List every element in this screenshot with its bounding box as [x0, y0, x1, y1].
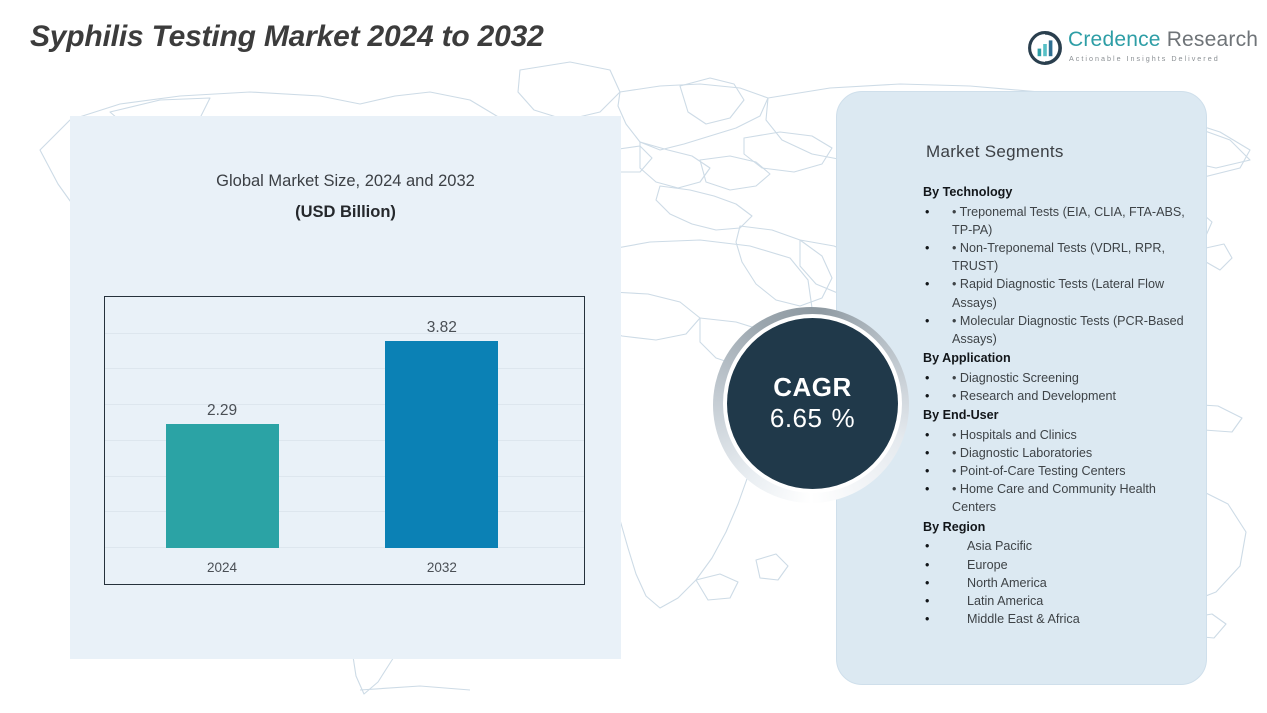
cagr-badge: CAGR 6.65 %: [713, 307, 909, 503]
cagr-value: 6.65: [770, 402, 823, 435]
logo-word-research: Research: [1161, 28, 1259, 51]
bar-2032: [385, 341, 498, 548]
segment-item-label: • Research and Development: [952, 389, 1116, 403]
bullet-icon: •: [925, 369, 929, 387]
bullet-icon: •: [925, 203, 929, 221]
segment-item: •• Non-Treponemal Tests (VDRL, RPR, TRUS…: [923, 239, 1201, 275]
market-size-chart-card: Global Market Size, 2024 and 2032 (USD B…: [70, 116, 621, 659]
gridline: [105, 333, 584, 334]
bullet-icon: •: [925, 312, 929, 330]
category-label-2024: 2024: [166, 560, 279, 575]
segment-item-label: • Molecular Diagnostic Tests (PCR-Based …: [952, 314, 1184, 346]
bar-value-label-2024: 2.29: [166, 402, 279, 420]
segment-item-label: Europe: [967, 558, 1008, 572]
segment-item-label: • Diagnostic Laboratories: [952, 446, 1092, 460]
header: Syphilis Testing Market 2024 to 2032 Cre…: [0, 0, 1267, 86]
bullet-icon: •: [925, 387, 929, 405]
segment-item: •Europe: [923, 556, 1201, 574]
bullet-icon: •: [925, 426, 929, 444]
bullet-icon: •: [925, 462, 929, 480]
segment-item: •• Diagnostic Screening: [923, 369, 1201, 387]
bar-chart-plot-area: 2.2920243.822032: [104, 296, 585, 585]
page-title: Syphilis Testing Market 2024 to 2032: [30, 20, 544, 54]
segment-item: •Asia Pacific: [923, 537, 1201, 555]
chart-title: Global Market Size, 2024 and 2032: [70, 172, 621, 191]
segment-item-label: • Treponemal Tests (EIA, CLIA, FTA-ABS, …: [952, 205, 1185, 237]
logo-tagline: Actionable Insights Delivered: [1069, 54, 1220, 63]
segment-item: •• Hospitals and Clinics: [923, 426, 1201, 444]
segment-item-label: • Diagnostic Screening: [952, 371, 1079, 385]
segment-item: •• Molecular Diagnostic Tests (PCR-Based…: [923, 312, 1201, 348]
bullet-icon: •: [925, 444, 929, 462]
cagr-unit: %: [831, 402, 855, 435]
bar-value-label-2032: 3.82: [385, 319, 498, 337]
segment-group-items: •• Hospitals and Clinics•• Diagnostic La…: [923, 426, 1201, 517]
segment-group-title: By End-User: [923, 407, 1201, 425]
segment-item-label: • Home Care and Community Health Centers: [952, 482, 1156, 514]
segment-item-label: Middle East & Africa: [967, 612, 1080, 626]
bullet-icon: •: [925, 537, 929, 555]
segments-heading: Market Segments: [926, 142, 1064, 162]
segment-group-title: By Region: [923, 519, 1201, 537]
chart-subtitle: (USD Billion): [70, 203, 621, 222]
logo-wordmark: Credence Research: [1068, 28, 1258, 52]
segment-item: •Middle East & Africa: [923, 610, 1201, 628]
bullet-icon: •: [925, 275, 929, 293]
segment-item-label: • Point-of-Care Testing Centers: [952, 464, 1126, 478]
segment-item: •Latin America: [923, 592, 1201, 610]
bullet-icon: •: [925, 592, 929, 610]
bullet-icon: •: [925, 574, 929, 592]
segment-item: •• Rapid Diagnostic Tests (Lateral Flow …: [923, 275, 1201, 311]
bullet-icon: •: [925, 480, 929, 498]
segment-item: •• Research and Development: [923, 387, 1201, 405]
segment-item-label: Asia Pacific: [967, 539, 1032, 553]
segment-item: •• Treponemal Tests (EIA, CLIA, FTA-ABS,…: [923, 203, 1201, 239]
bullet-icon: •: [925, 556, 929, 574]
segment-group-title: By Application: [923, 350, 1201, 368]
segment-group-items: •• Treponemal Tests (EIA, CLIA, FTA-ABS,…: [923, 203, 1201, 348]
segment-item: •North America: [923, 574, 1201, 592]
segment-item-label: • Hospitals and Clinics: [952, 428, 1077, 442]
segment-group-title: By Technology: [923, 184, 1201, 202]
segments-list: By Technology•• Treponemal Tests (EIA, C…: [923, 182, 1201, 628]
cagr-circle: CAGR 6.65 %: [727, 318, 898, 489]
segment-item-label: • Non-Treponemal Tests (VDRL, RPR, TRUST…: [952, 241, 1165, 273]
bar-2024: [166, 424, 279, 548]
gridline: [105, 368, 584, 369]
bullet-icon: •: [925, 239, 929, 257]
bullet-icon: •: [925, 610, 929, 628]
segment-item: •• Home Care and Community Health Center…: [923, 480, 1201, 516]
segment-group-items: •Asia Pacific•Europe•North America•Latin…: [923, 537, 1201, 628]
segment-item-label: • Rapid Diagnostic Tests (Lateral Flow A…: [952, 277, 1164, 309]
segment-item: •• Point-of-Care Testing Centers: [923, 462, 1201, 480]
segment-group-items: •• Diagnostic Screening•• Research and D…: [923, 369, 1201, 405]
cagr-value-row: 6.65 %: [770, 402, 855, 435]
cagr-label: CAGR: [773, 373, 852, 402]
segment-item-label: Latin America: [967, 594, 1043, 608]
bar-chart-circle-icon: [1028, 31, 1062, 65]
category-label-2032: 2032: [385, 560, 498, 575]
segment-item: •• Diagnostic Laboratories: [923, 444, 1201, 462]
logo-word-credence: Credence: [1068, 28, 1161, 51]
credence-research-logo: Credence Research Actionable Insights De…: [1028, 28, 1244, 72]
segment-item-label: North America: [967, 576, 1047, 590]
